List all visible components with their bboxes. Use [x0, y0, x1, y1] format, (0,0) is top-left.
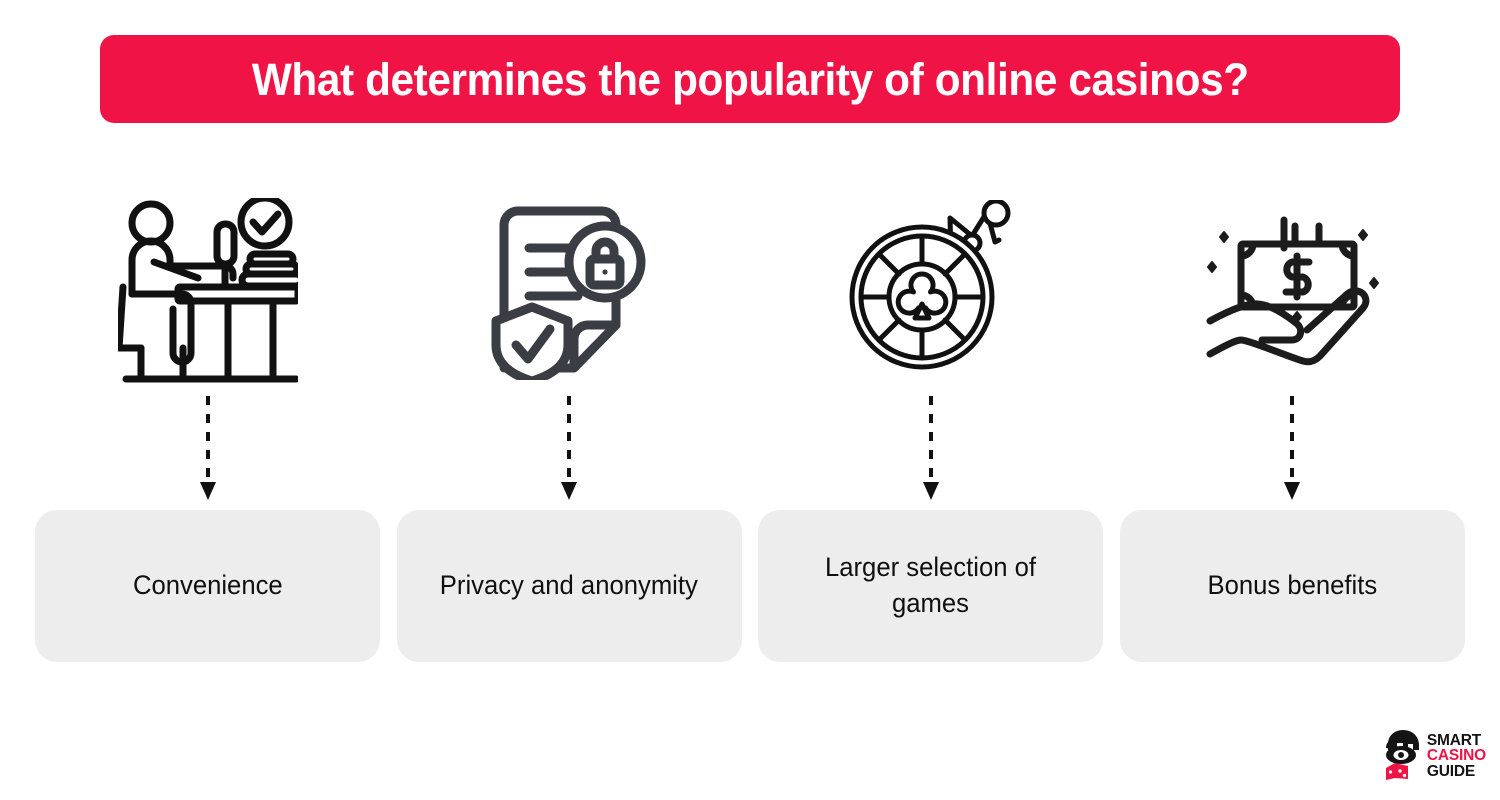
- label-text: Bonus benefits: [1208, 568, 1378, 604]
- label-text: Convenience: [133, 568, 283, 604]
- label-card-convenience[interactable]: Convenience: [35, 510, 380, 662]
- label-card-privacy-anonymity[interactable]: Privacy and anonymity: [397, 510, 742, 662]
- person-at-desk-check-icon: [118, 190, 298, 390]
- document-lock-shield-check-icon: [482, 190, 657, 390]
- label-text: Larger selection of games: [788, 550, 1074, 621]
- column-bonus-benefits: Bonus benefits: [1120, 190, 1465, 670]
- column-convenience: Convenience: [35, 190, 380, 670]
- title-banner: What determines the popularity of online…: [100, 35, 1400, 123]
- column-larger-selection-of-games: Larger selection of games: [758, 190, 1103, 670]
- label-card-larger-selection-of-games[interactable]: Larger selection of games: [758, 510, 1103, 662]
- column-privacy-anonymity: Privacy and anonymity: [397, 190, 742, 670]
- logo-line-guide: GUIDE: [1427, 764, 1486, 779]
- logo-line-casino: CASINO: [1427, 748, 1486, 763]
- smart-casino-guide-logo[interactable]: SMART CASINO GUIDE: [1382, 730, 1486, 782]
- page-title: What determines the popularity of online…: [252, 57, 1249, 102]
- logo-line-smart: SMART: [1427, 733, 1486, 748]
- dashed-arrow-convenience: [198, 390, 218, 510]
- hand-holding-money-icon: [1200, 190, 1385, 390]
- label-card-bonus-benefits[interactable]: Bonus benefits: [1120, 510, 1465, 662]
- label-text: Privacy and anonymity: [440, 568, 698, 604]
- dashed-arrow-larger-selection-of-games: [921, 390, 941, 510]
- dashed-arrow-bonus-benefits: [1282, 390, 1302, 510]
- columns-container: Convenience: [35, 190, 1465, 670]
- casino-wheel-club-crown-icon: [843, 190, 1018, 390]
- dashed-arrow-privacy-anonymity: [559, 390, 579, 510]
- logo-wordmark: SMART CASINO GUIDE: [1427, 733, 1486, 779]
- smart-casino-guide-mascot-icon: [1382, 730, 1422, 782]
